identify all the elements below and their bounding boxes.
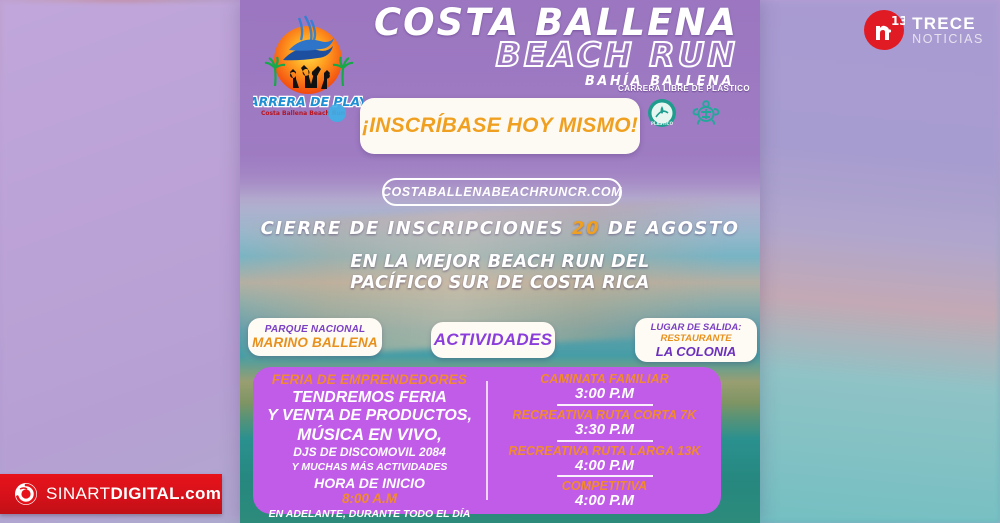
- schedule-name: CAMINATA FAMILIAR: [492, 372, 717, 386]
- fair-column: FERIA DE EMPRENDEDORES TENDREMOS FERIA Y…: [253, 367, 486, 514]
- event-poster: CARRERA DE PLAYA Costa Ballena Beach Run…: [240, 0, 760, 523]
- start-location-line-2: RESTAURANTE: [660, 333, 731, 344]
- svg-text:CARRERA DE PLAYA: CARRERA DE PLAYA: [253, 94, 363, 109]
- fair-line-4: DJS DE DISCOMOVIL 2084: [257, 445, 482, 461]
- website-url-label: COSTABALLENABEACHRUNCR.COM: [382, 185, 622, 199]
- schedule-item: RECREATIVA RUTA LARGA 13K 4:00 P.M: [492, 444, 717, 474]
- sinart-word-3: .com: [180, 484, 221, 503]
- svg-text:13: 13: [891, 14, 905, 28]
- trece-mark-icon: 13: [863, 9, 905, 51]
- tagline-line-1: EN LA MEJOR BEACH RUN DEL: [240, 252, 760, 273]
- schedule-time: 3:30 P.M: [492, 422, 717, 438]
- register-cta-label: ¡INSCRÍBASE HOY MISMO!: [362, 114, 638, 138]
- fair-line-1: TENDREMOS FERIA: [257, 389, 482, 407]
- schedule-rule: [557, 440, 653, 442]
- sinart-word-2: DIGITAL: [110, 484, 180, 503]
- website-url-pill[interactable]: COSTABALLENABEACHRUNCR.COM: [382, 178, 622, 206]
- fair-line-8: EN ADELANTE, DURANTE TODO EL DÍA: [257, 508, 482, 521]
- schedule-rule: [557, 475, 653, 477]
- svg-text:PLÁSTICO: PLÁSTICO: [651, 121, 674, 126]
- venue-pill: PARQUE NACIONAL MARINO BALLENA: [248, 318, 382, 356]
- schedule-time: 4:00 P.M: [492, 493, 717, 509]
- schedule-item: COMPETITIVA 4:00 P.M: [492, 479, 717, 509]
- closing-date-highlight: 20: [572, 218, 600, 239]
- schedule-time: 3:00 P.M: [492, 386, 717, 402]
- activities-label: ACTIVIDADES: [434, 330, 553, 350]
- start-location-line-3: LA COLONIA: [656, 344, 736, 359]
- fair-start-time: 8:00 A.M: [257, 491, 482, 507]
- plastic-free-label: CARRERA LIBRE DE PLÁSTICO: [618, 84, 750, 93]
- fair-start-time-heading: HORA DE INICIO: [257, 475, 482, 492]
- sinart-word-1: SINART: [46, 484, 110, 503]
- closing-prefix: CIERRE DE INSCRIPCIONES: [261, 218, 572, 239]
- closing-suffix: DE AGOSTO: [600, 218, 739, 239]
- venue-line-2: MARINO BALLENA: [252, 335, 378, 350]
- schedule-name: RECREATIVA RUTA LARGA 13K: [492, 444, 717, 458]
- sinart-mark-icon: [14, 482, 38, 506]
- sinart-text: SINARTDIGITAL.com: [46, 484, 221, 504]
- sinart-digital-watermark: SINARTDIGITAL.com: [0, 474, 222, 514]
- details-panel: FERIA DE EMPRENDEDORES TENDREMOS FERIA Y…: [253, 367, 721, 514]
- blurred-backdrop-left: [0, 0, 250, 523]
- venue-line-1: PARQUE NACIONAL: [265, 324, 366, 335]
- schedule-time: 4:00 P.M: [492, 458, 717, 474]
- fair-line-2: Y VENTA DE PRODUCTOS,: [257, 407, 482, 425]
- poster-title-block: COSTA BALLENA BEACH RUN BAHÍA BALLENA: [335, 4, 752, 89]
- activities-pill: ACTIVIDADES: [431, 322, 555, 358]
- schedule-item: CAMINATA FAMILIAR 3:00 P.M: [492, 372, 717, 402]
- tagline-line-2: PACÍFICO SUR DE COSTA RICA: [240, 273, 760, 294]
- schedule-rule: [557, 404, 653, 406]
- fair-heading: FERIA DE EMPRENDEDORES: [257, 372, 482, 387]
- poster-tagline: EN LA MEJOR BEACH RUN DEL PACÍFICO SUR D…: [240, 252, 760, 293]
- start-location-pill: LUGAR DE SALIDA: RESTAURANTE LA COLONIA: [635, 318, 757, 362]
- blurred-backdrop-right: [750, 0, 1000, 523]
- trece-line-1: TRECE: [912, 15, 984, 32]
- trece-text-block: TRECE NOTICIAS: [912, 15, 984, 46]
- screenshot-stage: CARRERA DE PLAYA Costa Ballena Beach Run…: [0, 0, 1000, 523]
- sea-turtle-icon: [691, 98, 721, 128]
- trece-line-2: NOTICIAS: [912, 33, 984, 46]
- start-location-line-1: LUGAR DE SALIDA:: [651, 322, 742, 333]
- trece-noticias-logo: 13 TRECE NOTICIAS: [863, 9, 984, 51]
- schedule-name: COMPETITIVA: [492, 479, 717, 493]
- fair-line-3: MÚSICA EN VIVO,: [257, 425, 482, 445]
- plastic-free-seal-icon: PLÁSTICO: [647, 98, 677, 128]
- schedule-column: CAMINATA FAMILIAR 3:00 P.M RECREATIVA RU…: [488, 367, 721, 514]
- register-cta-button[interactable]: ¡INSCRÍBASE HOY MISMO!: [360, 98, 640, 154]
- registration-closing-line: CIERRE DE INSCRIPCIONES 20 DE AGOSTO: [240, 218, 760, 239]
- schedule-name: RECREATIVA RUTA CORTA 7K: [492, 408, 717, 422]
- fair-line-5: Y MUCHAS MÁS ACTIVIDADES: [257, 461, 482, 475]
- schedule-item: RECREATIVA RUTA CORTA 7K 3:30 P.M: [492, 408, 717, 438]
